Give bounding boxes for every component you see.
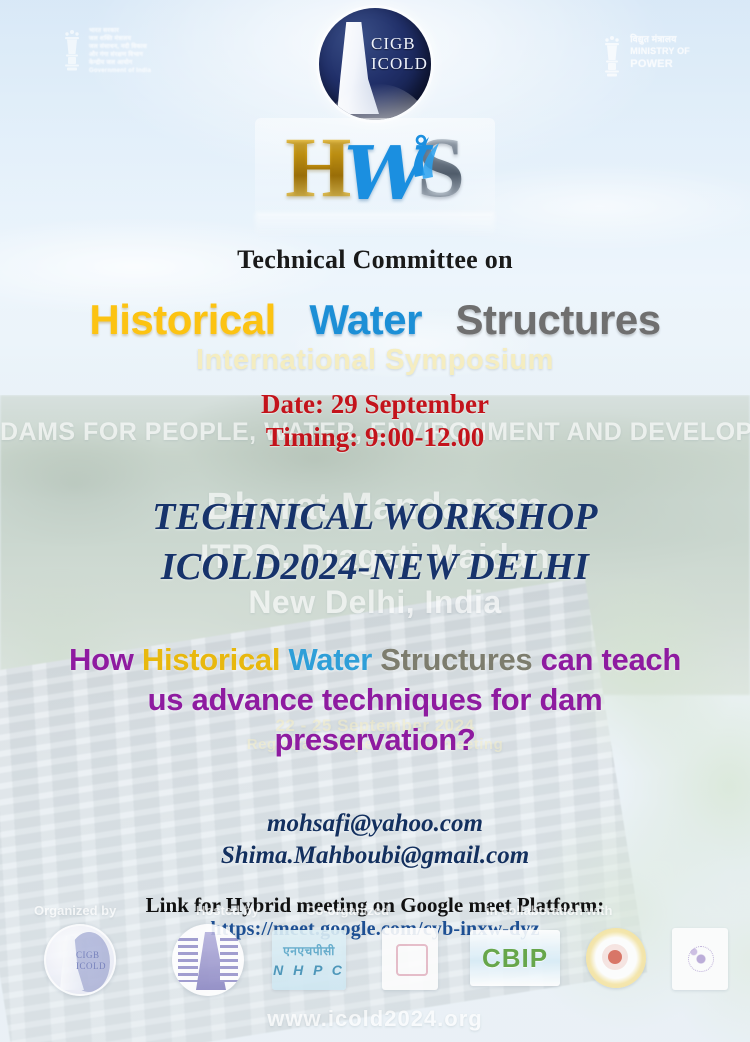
question-line-3: preservation? [0,720,750,760]
question-line-1: How Historical Water Structures can teac… [0,640,750,680]
event-timing: Timing: 9:00-12.00 [0,421,750,454]
workshop-question: How Historical Water Structures can teac… [0,640,750,760]
workshop-line-1: TECHNICAL WORKSHOP [0,492,750,542]
icold-logo-line-2: ICOLD [371,54,428,74]
water-splash-icon [409,131,443,183]
event-date: Date: 29 September [0,388,750,421]
cbip-logo-text: CBIP [482,943,548,974]
emblem-left-line-3: जल संसाधन, नदी विकास [89,44,151,51]
icold-logo-text: CIGB ICOLD [371,34,428,74]
question-line-2: us advance techniques for dam [0,680,750,720]
question-word-water: Water [288,642,371,677]
icold-footer-line-2: ICOLD [76,961,106,972]
question-seg-how: How [69,642,142,677]
emblem-left-line-2: जल शक्ति मंत्रालय [89,36,151,43]
question-word-historical: Historical [142,642,280,677]
emblem-left-line-1: भारत सरकार [89,28,151,35]
cigb-icold-footer-logo: CIGB ICOLD [44,924,116,996]
title-word-historical: Historical [89,296,275,343]
cigb-icold-logo: CIGB ICOLD [319,8,431,120]
ministry-of-power-emblem-right: विद्युत मंत्रालय MINISTRY OF POWER [602,34,690,78]
logo-sheen [319,78,431,120]
emblem-left-line-6: Government of India [89,68,151,75]
title-word-water: Water [309,296,422,343]
ashoka-emblem-icon [602,34,622,78]
partner-logo-1 [382,928,438,990]
page-title: Historical Water Structures [0,296,750,344]
emblem-left-text-lines: भारत सरकार जल शक्ति मंत्रालय जल संसाधन, … [89,28,151,75]
nhpc-logo: एनएचपीसी N H P C [272,930,346,990]
contact-email-2[interactable]: Shima.Mahboubi@gmail.com [0,840,750,872]
partner-logo-last [672,928,728,990]
contact-email-1[interactable]: mohsafi@yahoo.com [0,808,750,840]
title-space-1 [287,296,298,343]
inchold-dam-logo [172,924,244,996]
emblem-left-line-5: केन्द्रीय जल आयोग [89,60,151,67]
ministry-text-lines: विद्युत मंत्रालय MINISTRY OF POWER [630,34,690,71]
poster-root: International Symposium DAMS FOR PEOPLE,… [0,0,750,1042]
icold-logo-line-1: CIGB [371,34,428,54]
emblem-left-line-4: और गंगा संरक्षण विभाग [89,52,151,59]
government-of-india-emblem-left: भारत सरकार जल शक्ति मंत्रालय जल संसाधन, … [62,28,151,75]
title-space-2 [433,296,444,343]
hws-letter-h: H [285,124,350,210]
dam-stripes-right-icon [220,938,238,982]
title-word-structures: Structures [456,296,661,343]
hybrid-meeting-label: Link for Hybrid meeting on Google meet P… [0,893,750,918]
hws-reflection [255,212,495,238]
ministry-line-1: MINISTRY OF [630,46,690,57]
workshop-heading: TECHNICAL WORKSHOP ICOLD2024-NEW DELHI [0,492,750,592]
cbip-logo: CBIP [470,930,560,986]
question-seg-can-teach: can teach [532,642,681,677]
hws-wordmark-logo: H W S [255,118,495,216]
partner-round-logo [586,928,646,988]
icold-footer-line-1: CIGB [76,950,106,961]
icold-footer-text: CIGB ICOLD [76,950,106,972]
event-date-time-block: Date: 29 September Timing: 9:00-12.00 [0,388,750,454]
dam-stripes-left-icon [178,938,198,982]
ministry-hindi-line: विद्युत मंत्रालय [630,34,690,45]
ashoka-emblem-icon [62,28,82,72]
hws-letter-w: W [344,137,427,211]
ministry-line-2: POWER [630,58,690,71]
nhpc-abbr-text: N H P C [273,962,345,978]
contact-emails: mohsafi@yahoo.com Shima.Mahboubi@gmail.c… [0,808,750,872]
technical-committee-prefix: Technical Committee on [0,245,750,275]
workshop-line-2: ICOLD2024-NEW DELHI [0,542,750,592]
question-word-structures: Structures [380,642,532,677]
nhpc-hindi-text: एनएचपीसी [283,942,335,959]
footer-logo-row: CIGB ICOLD एनएचपीसी N H P C CBIP [0,924,750,996]
